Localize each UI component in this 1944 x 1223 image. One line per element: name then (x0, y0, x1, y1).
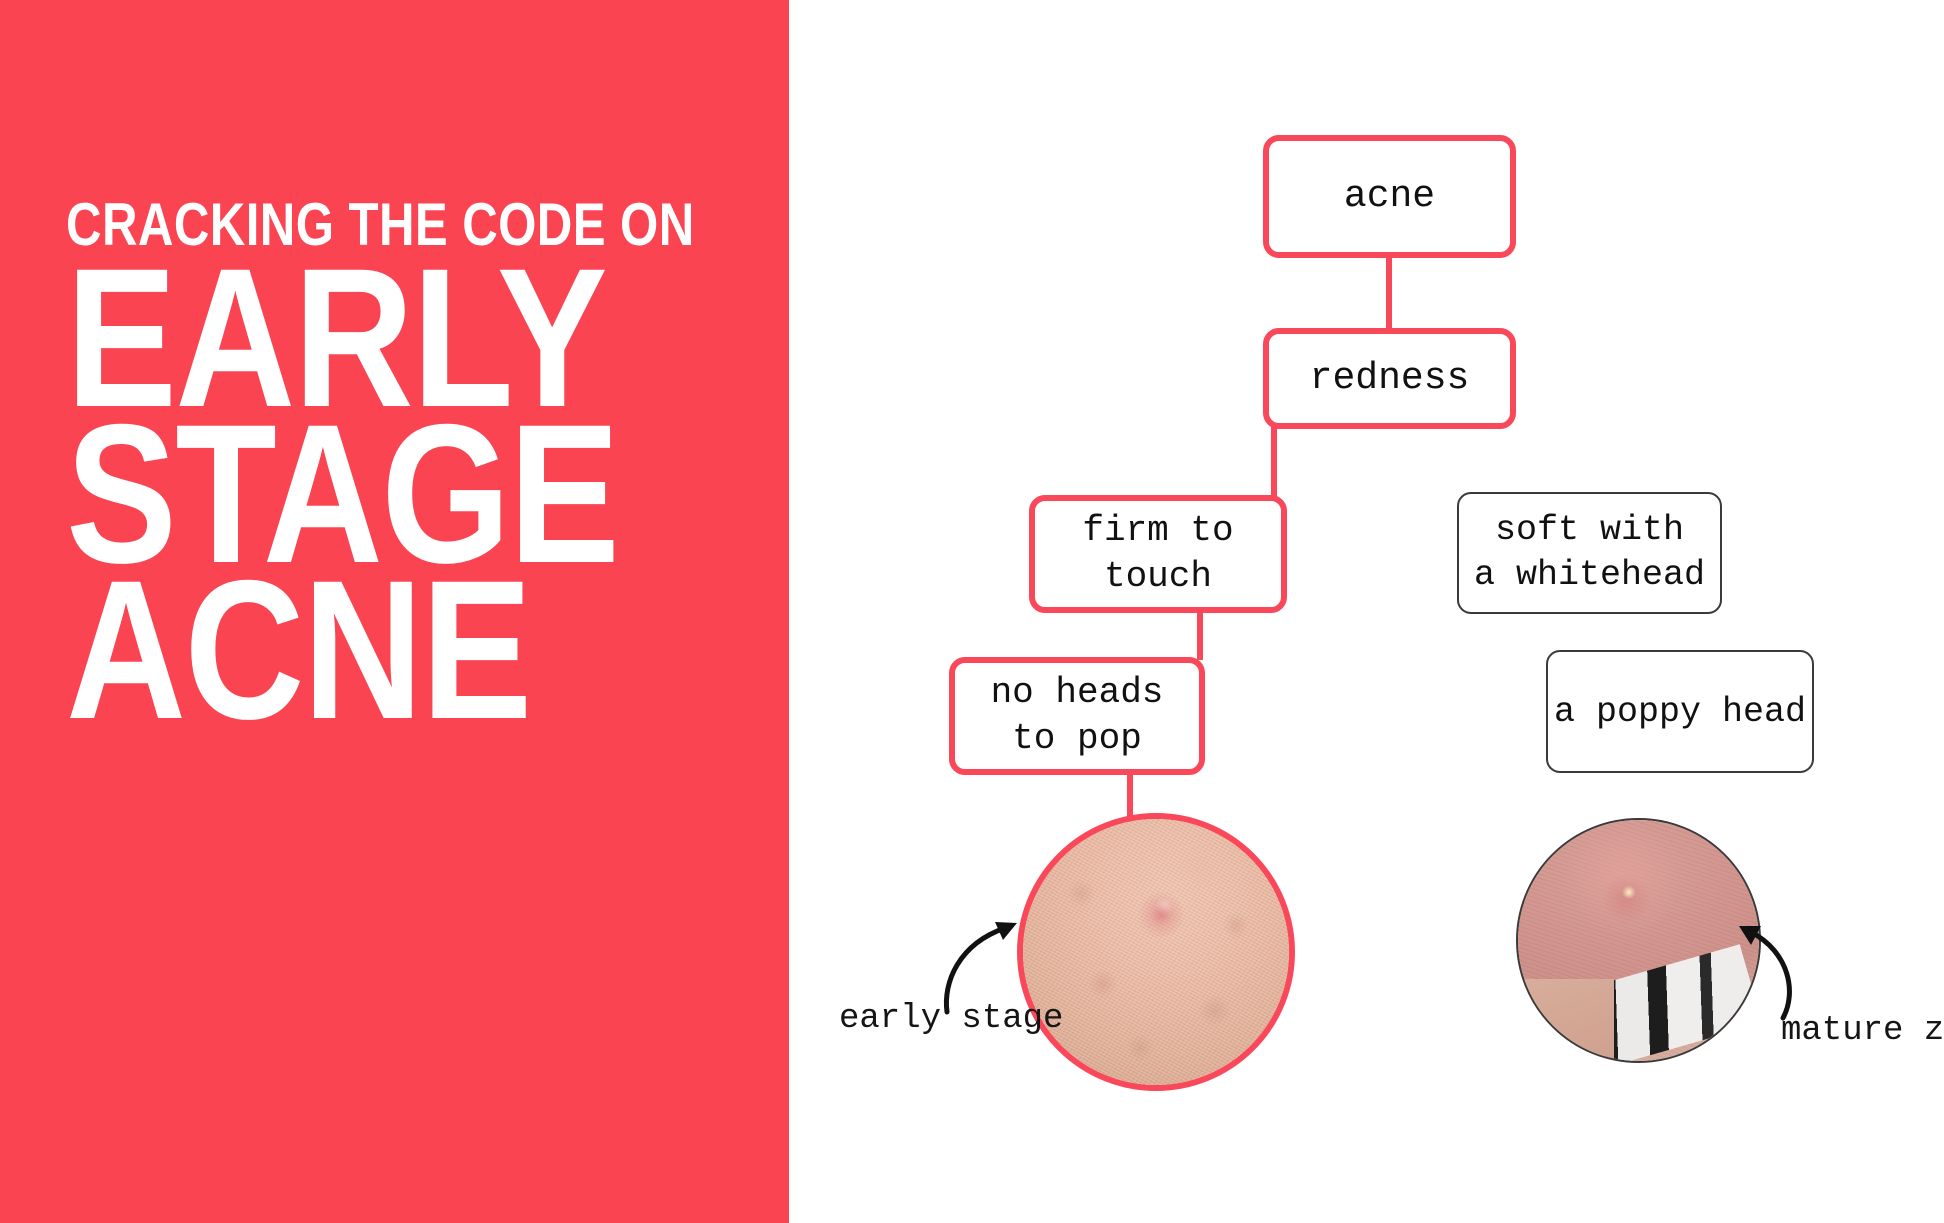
headline-block: CRACKING THE CODE ON EARLY STAGE ACNE (66, 196, 726, 729)
flow-node-firm-to-touch-label: firm to touch (1082, 508, 1233, 600)
flowchart: acne redness firm to touch soft with a w… (789, 0, 1944, 1223)
infographic-page: CRACKING THE CODE ON EARLY STAGE ACNE ac… (0, 0, 1944, 1223)
connector-firm-to-noheads (1197, 610, 1203, 660)
title-panel: CRACKING THE CODE ON EARLY STAGE ACNE (0, 0, 789, 1223)
flow-node-acne-label: acne (1344, 175, 1435, 218)
flow-node-acne[interactable]: acne (1263, 135, 1516, 258)
photo-skin-fold (1516, 979, 1614, 1063)
flow-node-no-heads-to-pop-label: no heads to pop (991, 670, 1164, 762)
callout-label-early-stage: early stage (839, 1000, 1063, 1038)
callout-label-mature-zit: mature zit (1781, 1012, 1944, 1050)
flow-node-redness[interactable]: redness (1263, 328, 1516, 429)
connector-acne-to-redness (1386, 255, 1392, 331)
flow-node-a-poppy-head-label: a poppy head (1554, 692, 1806, 732)
curved-arrow-up-left-icon (1725, 912, 1845, 1024)
flow-node-a-poppy-head[interactable]: a poppy head (1546, 650, 1814, 773)
flow-node-soft-with-whitehead-label: soft with a whitehead (1474, 508, 1705, 598)
title-line-3: ACNE (66, 572, 620, 728)
flow-node-firm-to-touch[interactable]: firm to touch (1029, 495, 1287, 613)
flow-node-soft-with-whitehead[interactable]: soft with a whitehead (1457, 492, 1722, 614)
flow-node-no-heads-to-pop[interactable]: no heads to pop (949, 657, 1205, 775)
flow-node-redness-label: redness (1310, 357, 1470, 400)
connector-redness-to-firm (1271, 426, 1277, 498)
early-stage-skin-texture (1023, 819, 1289, 1085)
